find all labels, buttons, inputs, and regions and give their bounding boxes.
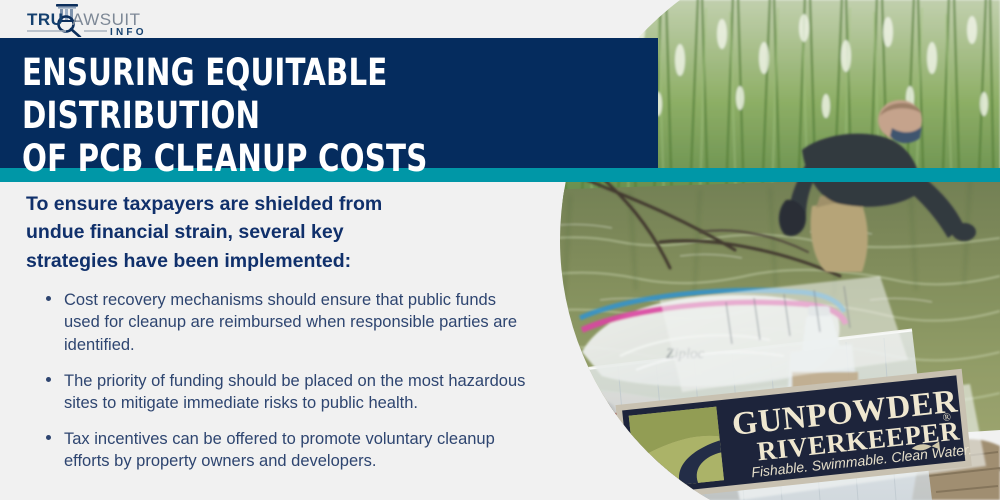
- content-area: To ensure taxpayers are shielded from un…: [0, 190, 545, 486]
- tru-lawsuit-info-logo[interactable]: TRU AWSUIT INFO: [14, 3, 164, 37]
- list-item-text: The priority of funding should be placed…: [64, 372, 525, 413]
- title-bar: ENSURING EQUITABLE DISTRIBUTION OF PCB C…: [0, 38, 658, 168]
- page-title: ENSURING EQUITABLE DISTRIBUTION OF PCB C…: [22, 52, 564, 181]
- list-item: The priority of funding should be placed…: [46, 370, 535, 415]
- list-item-text: Tax incentives can be offered to promote…: [64, 430, 495, 471]
- bullet-icon: [46, 435, 51, 440]
- bullet-icon: [46, 377, 51, 382]
- list-item: Cost recovery mechanisms should ensure t…: [46, 289, 535, 357]
- logo-word-info: INFO: [110, 27, 147, 37]
- list-item-text: Cost recovery mechanisms should ensure t…: [64, 291, 517, 354]
- lead-paragraph: To ensure taxpayers are shielded from un…: [26, 190, 535, 275]
- logo-word-tru: TRU: [27, 10, 63, 29]
- infographic-canvas: Ziploc: [0, 0, 1000, 500]
- bullet-icon: [46, 296, 51, 301]
- strategies-list: Cost recovery mechanisms should ensure t…: [26, 289, 535, 473]
- list-item: Tax incentives can be offered to promote…: [46, 428, 535, 473]
